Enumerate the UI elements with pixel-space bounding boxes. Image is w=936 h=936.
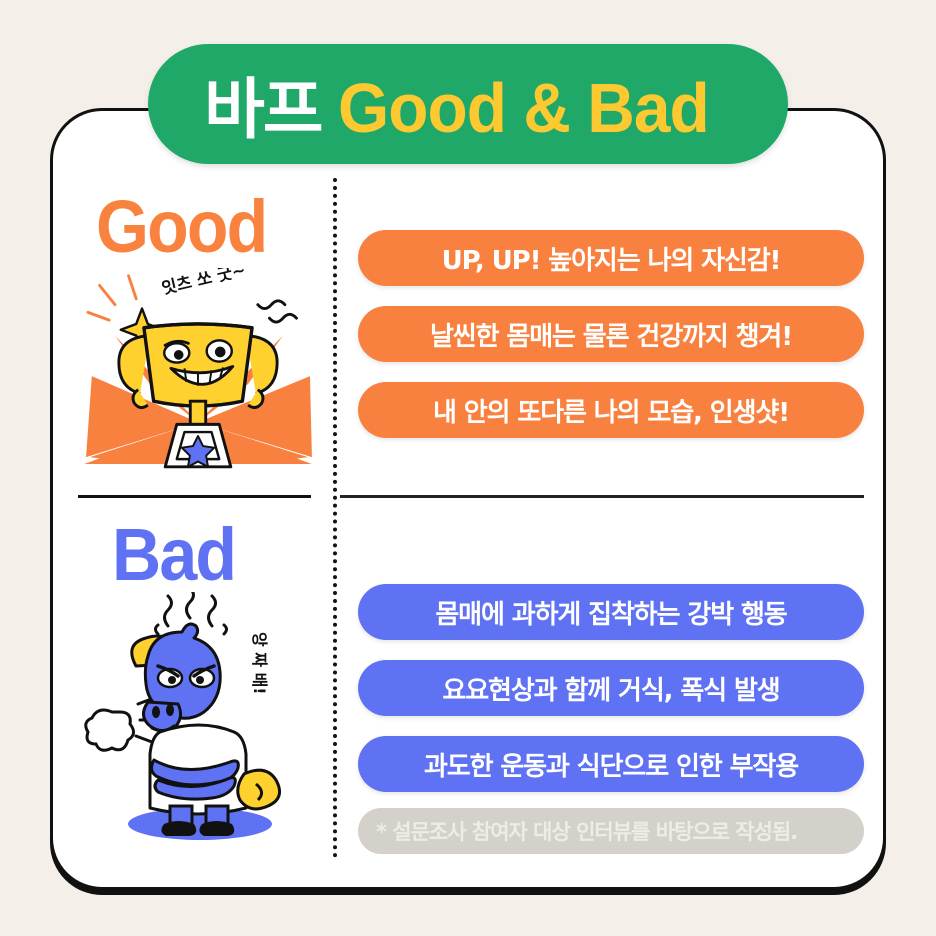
good-illustration-block: Good 잇츠 쏘 굿~ [78, 190, 318, 495]
handwritten-caption: 앙 짜 배! [250, 632, 269, 695]
horse-character-icon: 앙 짜 배! [78, 592, 318, 840]
list-item[interactable]: 내 안의 또다른 나의 모습, 인생샷! [358, 382, 864, 438]
good-items-list: UP, UP! 높아지는 나의 자신감! 날씬한 몸매는 물론 건강까지 챙겨!… [358, 230, 864, 438]
header-title-english: Good & Bad [338, 68, 709, 148]
header-title-korean: 바프 [204, 56, 321, 152]
spark-lines [88, 276, 136, 320]
bad-illustration-block: Bad 앙 짜 배! [78, 518, 318, 858]
header-banner: 바프 Good & Bad [148, 44, 788, 164]
header-title: 바프 Good & Bad [204, 56, 732, 152]
trophy-ground-line [78, 495, 311, 498]
list-item[interactable]: UP, UP! 높아지는 나의 자신감! [358, 230, 864, 286]
list-item[interactable]: 과도한 운동과 식단으로 인한 부작용 [358, 736, 864, 792]
good-heading: Good [96, 190, 300, 264]
footnote-wrap: * 설문조사 참여자 대상 인터뷰를 바탕으로 작성됨. [358, 808, 864, 854]
list-item[interactable]: 몸매에 과하게 집착하는 강박 행동 [358, 584, 864, 640]
handwritten-caption: 잇츠 쏘 굿~ [160, 268, 248, 298]
vertical-dotted-divider [333, 178, 337, 858]
svg-text:앙 짜 배!: 앙 짜 배! [250, 632, 269, 695]
anger-puff-icon [86, 710, 134, 750]
svg-text:잇츠 쏘 굿~: 잇츠 쏘 굿~ [160, 268, 248, 298]
content-column: UP, UP! 높아지는 나의 자신감! 날씬한 몸매는 물론 건강까지 챙겨!… [358, 178, 864, 854]
footnote: * 설문조사 참여자 대상 인터뷰를 바탕으로 작성됨. [358, 808, 864, 854]
list-item[interactable]: 날씬한 몸매는 물론 건강까지 챙겨! [358, 306, 864, 362]
trophy-character-icon: 잇츠 쏘 굿~ [78, 268, 318, 490]
bad-items-list: 몸매에 과하게 집착하는 강박 행동 요요현상과 함께 거식, 폭식 발생 과도… [358, 584, 864, 792]
bad-heading: Bad [112, 518, 302, 592]
list-item[interactable]: 요요현상과 함께 거식, 폭식 발생 [358, 660, 864, 716]
tail-icon [238, 770, 280, 809]
